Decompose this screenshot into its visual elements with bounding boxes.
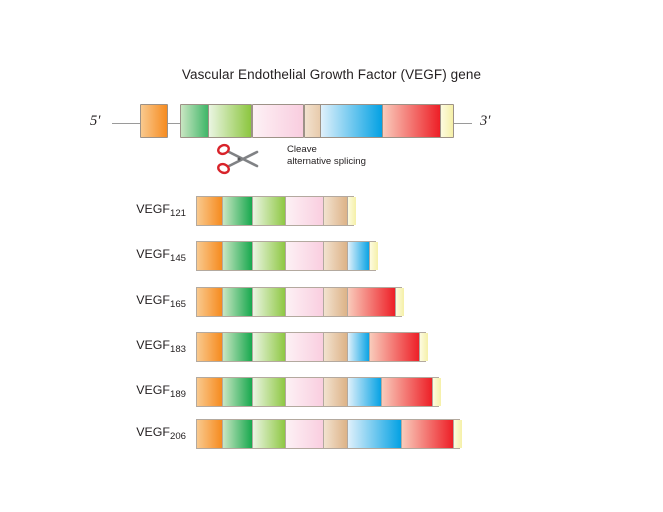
exon-4 [252,104,304,138]
segment-tan [323,378,348,406]
segment-yellow [369,242,378,270]
isoform-name: VEGF [136,202,170,216]
isoform-label-vegf-145: VEGF145 [136,247,186,261]
isoform-name: VEGF [136,293,170,307]
segment-lightgreen [252,420,286,448]
segment-orange [197,242,222,270]
segment-yellow [432,378,441,406]
segment-lightgreen [252,197,286,225]
isoform-bar-vegf-206 [196,419,460,449]
segment-tan [323,333,348,361]
cleave-annotation: Cleave alternative splicing [215,143,445,179]
isoform-bar-vegf-145 [196,241,376,271]
isoform-bar-vegf-121 [196,196,354,226]
exon-6 [320,104,384,138]
isoform-subscript: 145 [170,253,186,264]
scissors-icon [215,143,261,175]
segment-blue [347,242,370,270]
isoform-label-vegf-206: VEGF206 [136,425,186,439]
segment-orange [197,197,222,225]
segment-orange [197,420,222,448]
segment-lightgreen [252,288,286,316]
isoform-label-vegf-121: VEGF121 [136,202,186,216]
segment-red [347,288,396,316]
cleave-line-2: alternative splicing [287,156,366,168]
isoform-row-vegf-121: VEGF121 [0,196,663,226]
segment-yellow [419,333,428,361]
segment-green [222,197,253,225]
isoform-row-vegf-145: VEGF145 [0,241,663,271]
segment-orange [197,378,222,406]
isoform-label-vegf-183: VEGF183 [136,338,186,352]
isoform-label-vegf-189: VEGF189 [136,383,186,397]
exon-1 [140,104,168,138]
segment-lightgreen [252,378,286,406]
segment-yellow [453,420,462,448]
segment-orange [197,288,222,316]
isoform-name: VEGF [136,383,170,397]
segment-yellow [347,197,356,225]
segment-pink [285,197,324,225]
exon-3 [208,104,252,138]
segment-red [381,378,433,406]
segment-tan [323,197,348,225]
exon-8 [440,104,454,138]
segment-lightgreen [252,242,286,270]
isoform-row-vegf-165: VEGF165 [0,287,663,317]
five-prime-label: 5′ [90,113,100,130]
isoform-name: VEGF [136,425,170,439]
isoform-subscript: 206 [170,431,186,442]
segment-red [369,333,420,361]
isoform-subscript: 189 [170,389,186,400]
isoform-subscript: 121 [170,208,186,219]
segment-yellow [395,288,404,316]
cleave-line-1: Cleave [287,144,366,156]
segment-red [401,420,454,448]
isoform-bar-vegf-189 [196,377,439,407]
segment-green [222,242,253,270]
isoform-row-vegf-183: VEGF183 [0,332,663,362]
exon-7 [382,104,442,138]
three-prime-label: 3′ [480,113,490,130]
segment-lightgreen [252,333,286,361]
figure-title: Vascular Endothelial Growth Factor (VEGF… [0,67,663,82]
isoform-name: VEGF [136,338,170,352]
isoform-subscript: 165 [170,299,186,310]
segment-tan [323,242,348,270]
segment-blue [347,378,382,406]
isoform-bar-vegf-165 [196,287,402,317]
segment-green [222,420,253,448]
segment-tan [323,420,348,448]
segment-blue [347,333,370,361]
segment-pink [285,420,324,448]
segment-green [222,333,253,361]
segment-blue [347,420,402,448]
segment-tan [323,288,348,316]
gene-diagram: 5′ 3′ [0,104,663,144]
isoform-row-vegf-206: VEGF206 [0,419,663,449]
segment-green [222,288,253,316]
isoform-name: VEGF [136,247,170,261]
segment-orange [197,333,222,361]
segment-pink [285,333,324,361]
isoform-subscript: 183 [170,344,186,355]
isoform-row-vegf-189: VEGF189 [0,377,663,407]
segment-pink [285,288,324,316]
segment-pink [285,378,324,406]
segment-green [222,378,253,406]
isoform-label-vegf-165: VEGF165 [136,293,186,307]
isoform-bar-vegf-183 [196,332,426,362]
segment-pink [285,242,324,270]
cleave-text-block: Cleave alternative splicing [287,144,366,168]
